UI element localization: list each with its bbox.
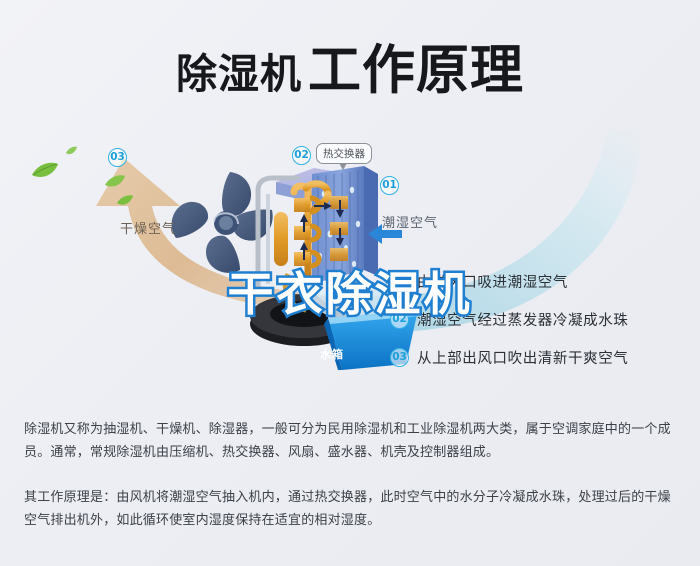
step-text: 从上部出风口吹出清新干爽空气 <box>417 347 628 368</box>
badge-dry-air: 03 <box>108 148 127 167</box>
leaf-icon <box>104 174 126 189</box>
page-title: 除湿机工作原理 <box>0 28 700 104</box>
step-text: 由进风口吸进潮湿空气 <box>417 271 568 292</box>
description-paragraph-2: 其工作原理是：由风机将潮湿空气抽入机内，通过热交换器，此时空气中的水分子冷凝成水… <box>24 486 682 532</box>
description-paragraph-1: 除湿机又称为抽湿机、干燥机、除湿器，一般可分为民用除湿机和工业除湿机两大类，属于… <box>24 418 682 464</box>
page-title-part-2: 工作原理 <box>308 40 524 101</box>
step-number: 03 <box>390 348 409 367</box>
label-water-tank: 水箱 <box>320 346 344 362</box>
list-item: 03 从上部出风口吹出清新干爽空气 <box>390 338 690 376</box>
badge-heat-exchanger: 02 <box>292 146 311 165</box>
step-text: 潮湿空气经过蒸发器冷凝成水珠 <box>417 309 628 330</box>
callout-heat-exchanger: 热交换器 <box>316 143 372 164</box>
step-list: 01 由进风口吸进潮湿空气 02 潮湿空气经过蒸发器冷凝成水珠 03 从上部出风… <box>390 262 690 376</box>
label-humid-air: 潮湿空气 <box>382 212 438 231</box>
infographic-page: 除湿机工作原理 <box>0 0 700 566</box>
step-number: 02 <box>390 310 409 329</box>
list-item: 02 潮湿空气经过蒸发器冷凝成水珠 <box>390 300 690 338</box>
step-number: 01 <box>390 272 409 291</box>
leaf-icon <box>116 194 134 207</box>
page-title-part-1: 除湿机 <box>176 50 302 98</box>
leaf-icon <box>65 146 78 156</box>
badge-humid-air: 01 <box>380 176 399 195</box>
list-item: 01 由进风口吸进潮湿空气 <box>390 262 690 300</box>
leaf-icon <box>30 161 60 181</box>
label-dry-air: 干燥空气 <box>120 218 176 237</box>
